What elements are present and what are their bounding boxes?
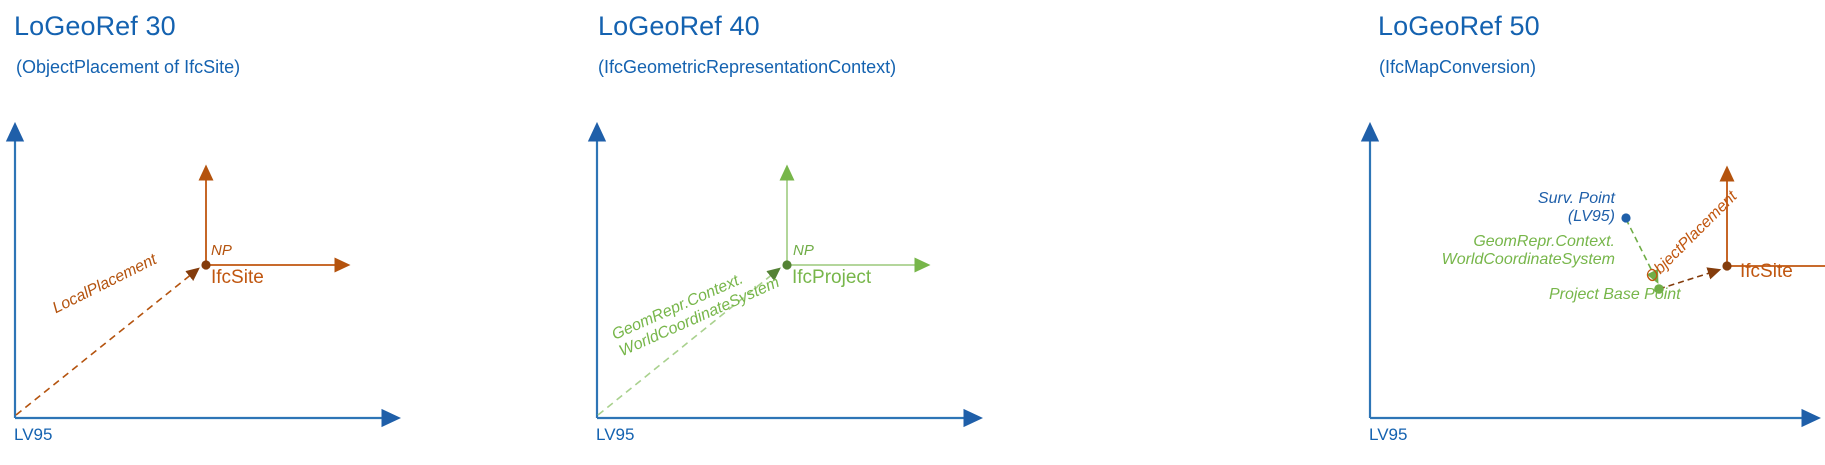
crs-label: LV95 [1369,425,1407,445]
panel-2-drawing [580,0,1160,465]
local-origin-label: NP [211,243,232,260]
entity-label: IfcProject [792,267,871,288]
panel-1-drawing [0,0,580,465]
world-coordinate-system-label: GeomRepr.Context. WorldCoordinateSystem [1340,233,1615,269]
survey-point-marker [1621,213,1630,222]
survey-point-label: Surv. Point (LV95) [1460,190,1615,226]
local-origin-point [201,260,210,269]
entity-label: IfcSite [211,267,264,288]
local-origin-point [782,260,791,269]
panel-logeoref-30: LoGeoRef 30 (ObjectPlacement of IfcSite) [0,0,580,465]
local-origin-label: NP [793,243,814,260]
wcs-label-line-2: WorldCoordinateSystem [1340,251,1615,269]
survey-point-label-line-2: (LV95) [1460,208,1615,226]
survey-point-label-line-1: Surv. Point [1460,190,1615,208]
crs-label: LV95 [14,425,52,445]
local-origin-point [1722,261,1731,270]
panel-logeoref-50: LoGeoRef 50 (IfcMapConversion) [1160,0,1825,465]
entity-label: IfcSite [1740,261,1793,282]
panel-logeoref-40: LoGeoRef 40 (IfcGeometricRepresentationC… [580,0,1160,465]
crs-label: LV95 [596,425,634,445]
wcs-label-line-1: GeomRepr.Context. [1340,233,1615,251]
logeoref-figure: LoGeoRef 30 (ObjectPlacement of IfcSite) [0,0,1825,465]
project-base-point-label: Project Base Point [1549,286,1681,304]
